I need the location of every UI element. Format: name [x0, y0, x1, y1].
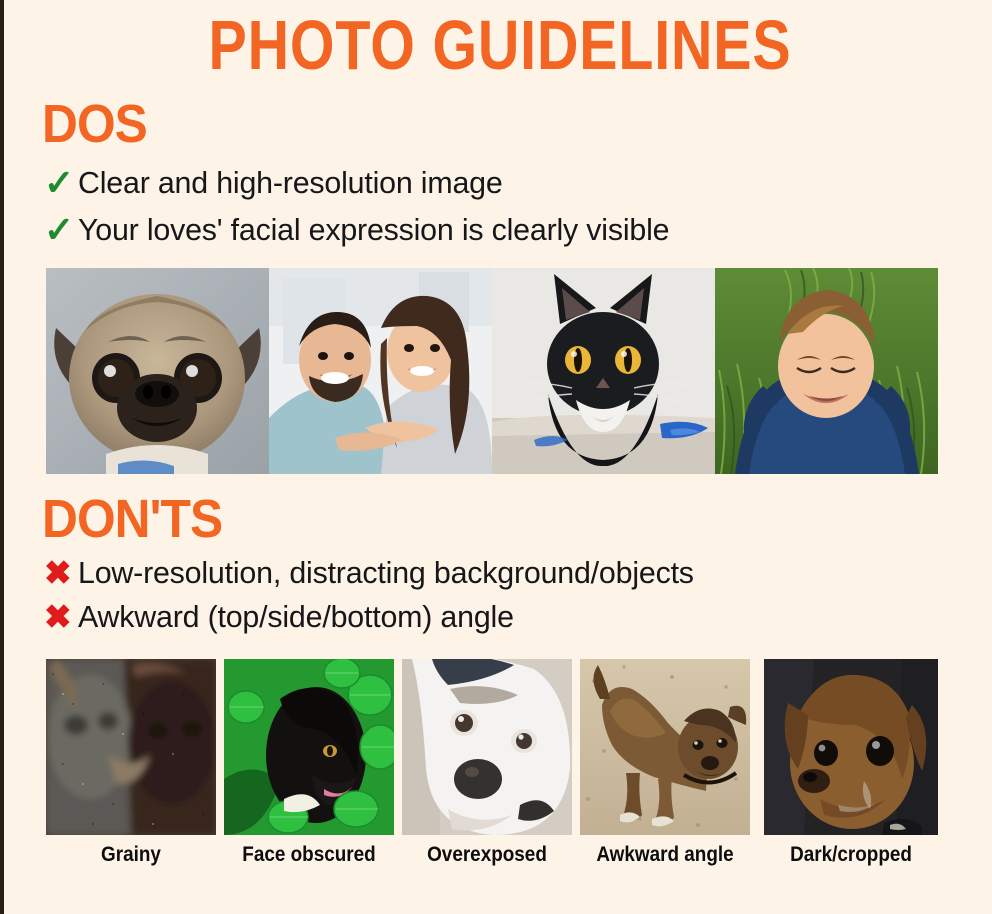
section-heading-dos: DOS: [42, 97, 147, 151]
donts-photo-face-obscured: [224, 659, 394, 835]
overexposed-photo-image: [402, 659, 572, 835]
page-title: PHOTO GUIDELINES: [93, 8, 906, 82]
dos-bullet-item: ✓ Clear and high-resolution image: [44, 166, 511, 200]
donts-photo-grainy: [46, 659, 216, 835]
donts-photo-dark-cropped: [764, 659, 938, 835]
donts-bullet-label: Awkward (top/side/bottom) angle: [78, 600, 514, 634]
dos-bullet-label: Clear and high-resolution image: [78, 166, 503, 200]
check-icon: ✓: [44, 166, 78, 200]
dos-photo-pug: [46, 268, 269, 474]
donts-photo-overexposed: [402, 659, 572, 835]
cross-icon: ✖: [44, 600, 78, 634]
donts-photo-caption: Overexposed: [411, 843, 564, 867]
awkward-angle-photo-image: [580, 659, 750, 835]
dos-bullet-label: Your loves' facial expression is clearly…: [78, 213, 669, 247]
donts-bullet-item: ✖ Awkward (top/side/bottom) angle: [44, 600, 523, 634]
donts-photo-caption: Dark/cropped: [773, 843, 930, 867]
donts-photo-caption: Grainy: [55, 843, 208, 867]
dos-photo-cat: [492, 268, 715, 474]
photo-guidelines-poster: PHOTO GUIDELINES DOS ✓ Clear and high-re…: [0, 0, 992, 914]
donts-photo-caption: Face obscured: [233, 843, 386, 867]
grainy-photo-image: [46, 659, 216, 835]
boy-photo-image: [715, 268, 938, 474]
check-icon: ✓: [44, 213, 78, 247]
dos-bullet-item: ✓ Your loves' facial expression is clear…: [44, 213, 681, 247]
face-obscured-photo-image: [224, 659, 394, 835]
cross-icon: ✖: [44, 556, 78, 590]
dos-photo-couple: [269, 268, 492, 474]
dos-photo-boy: [715, 268, 938, 474]
dark-cropped-photo-image: [764, 659, 938, 835]
donts-bullet-item: ✖ Low-resolution, distracting background…: [44, 556, 706, 590]
section-heading-donts: DON'TS: [42, 492, 222, 546]
donts-photo-awkward-angle: [580, 659, 750, 835]
donts-photo-caption: Awkward angle: [589, 843, 742, 867]
donts-bullet-label: Low-resolution, distracting background/o…: [78, 556, 694, 590]
cat-photo-image: [492, 268, 715, 474]
pug-photo-image: [46, 268, 269, 474]
couple-photo-image: [269, 268, 492, 474]
